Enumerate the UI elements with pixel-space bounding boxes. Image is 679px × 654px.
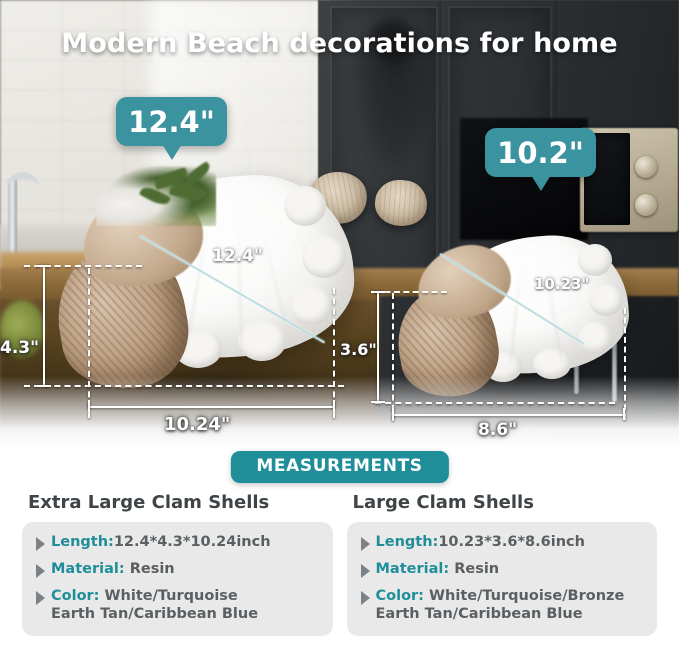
- spec-value-line2: Earth Tan/Caribbean Blue: [51, 606, 258, 622]
- width-cap-left: [88, 400, 90, 412]
- small-shell-top-extension: [375, 291, 447, 293]
- small-shell-width-line: [393, 414, 625, 416]
- spec-value: White/Turquoise/Bronze: [424, 588, 624, 604]
- shell-scallop: [284, 186, 326, 226]
- large-shell-height-line: [43, 266, 45, 386]
- small-shell-diagonal-label: 10.23": [534, 275, 589, 293]
- shell-scallop: [302, 236, 346, 278]
- width-cap-right: [623, 408, 625, 420]
- large-shell-callout: 12.4": [116, 97, 227, 146]
- width-cap-left: [392, 408, 394, 420]
- spec-card-body: Length:12.4*4.3*10.24inch Material: Resi…: [22, 522, 333, 636]
- triangle-bullet-icon: [36, 537, 45, 551]
- spec-value: White/Turquoise: [99, 588, 237, 604]
- height-cap-top: [37, 265, 51, 267]
- triangle-bullet-icon: [361, 537, 370, 551]
- spec-card-title: Large Clam Shells: [353, 492, 658, 513]
- large-clam-shell: [398, 230, 623, 400]
- small-shell-callout: 10.2": [485, 128, 596, 177]
- measurements-badge: MEASUREMENTS: [230, 451, 448, 483]
- height-cap-bottom: [371, 401, 385, 403]
- spec-card-title: Extra Large Clam Shells: [28, 492, 333, 513]
- large-shell-right-extension: [333, 288, 335, 418]
- spec-value: 12.4*4.3*10.24inch: [114, 534, 271, 550]
- spec-key: Material:: [51, 561, 125, 577]
- spec-row-text: Length:10.23*3.6*8.6inch: [376, 533, 585, 551]
- triangle-bullet-icon: [36, 591, 45, 605]
- spec-row-length: Length:10.23*3.6*8.6inch: [359, 533, 646, 551]
- large-shell-height-label: 4.3": [0, 338, 39, 358]
- small-shell-bottom-extension: [375, 402, 615, 404]
- spec-key: Color:: [51, 588, 99, 604]
- small-shell-left-extension: [392, 293, 394, 421]
- spec-row-color: Color: White/Turquoise/BronzeEarth Tan/C…: [359, 587, 646, 623]
- width-cap-right: [333, 400, 335, 412]
- small-shell-width-label: 8.6": [478, 420, 517, 440]
- large-shell-bottom-extension: [24, 385, 344, 387]
- large-shell-diagonal-label: 12.4": [212, 246, 263, 266]
- microwave-knob: [635, 194, 657, 216]
- spec-key: Color:: [376, 588, 424, 604]
- small-shell-height-label: 3.6": [340, 340, 377, 359]
- page-title: Modern Beach decorations for home: [0, 28, 679, 59]
- spec-row-text: Material: Resin: [51, 560, 175, 578]
- height-cap-bottom: [37, 385, 51, 387]
- spec-row-text: Color: White/Turquoise/BronzeEarth Tan/C…: [376, 587, 625, 623]
- spec-row-color: Color: White/TurquoiseEarth Tan/Caribbea…: [34, 587, 321, 623]
- spec-row-text: Material: Resin: [376, 560, 500, 578]
- small-shell-right-extension: [624, 308, 626, 420]
- microwave-knob: [635, 156, 657, 178]
- spec-row-text: Length:12.4*4.3*10.24inch: [51, 533, 271, 551]
- shell-scallop: [578, 244, 612, 276]
- large-shell-left-extension: [88, 268, 90, 418]
- spec-key: Length:: [376, 534, 439, 550]
- small-shell-height-line: [377, 292, 379, 402]
- large-shell-width-line: [89, 406, 334, 408]
- spec-value: 10.23*3.6*8.6inch: [438, 534, 585, 550]
- spec-row-material: Material: Resin: [359, 560, 646, 578]
- spec-value: Resin: [449, 561, 499, 577]
- spec-card-body: Length:10.23*3.6*8.6inch Material: Resin…: [347, 522, 658, 636]
- shell-scallop: [290, 285, 332, 325]
- triangle-bullet-icon: [36, 564, 45, 578]
- shell-scallop: [238, 321, 286, 361]
- leaf: [139, 184, 171, 209]
- spec-card-large: Large Clam Shells Length:10.23*3.6*8.6in…: [347, 492, 658, 654]
- spec-row-text: Color: White/TurquoiseEarth Tan/Caribbea…: [51, 587, 258, 623]
- height-cap-top: [371, 291, 385, 293]
- spec-card-extra-large: Extra Large Clam Shells Length:12.4*4.3*…: [22, 492, 333, 654]
- shell-scallop: [533, 349, 571, 379]
- spec-value: Resin: [125, 561, 175, 577]
- spec-row-material: Material: Resin: [34, 560, 321, 578]
- spec-key: Length:: [51, 534, 114, 550]
- kitchen-photo-scene: [0, 0, 679, 448]
- plant-arrangement: [96, 166, 216, 226]
- spec-row-length: Length:12.4*4.3*10.24inch: [34, 533, 321, 551]
- shell-scallop: [578, 322, 612, 354]
- spec-value-line2: Earth Tan/Caribbean Blue: [376, 606, 583, 622]
- large-shell-width-label: 10.24": [164, 414, 230, 435]
- spec-cards: Extra Large Clam Shells Length:12.4*4.3*…: [0, 492, 679, 654]
- product-infographic: Modern Beach decorations for home 12.4" …: [0, 0, 679, 654]
- triangle-bullet-icon: [361, 591, 370, 605]
- spec-key: Material:: [376, 561, 450, 577]
- triangle-bullet-icon: [361, 564, 370, 578]
